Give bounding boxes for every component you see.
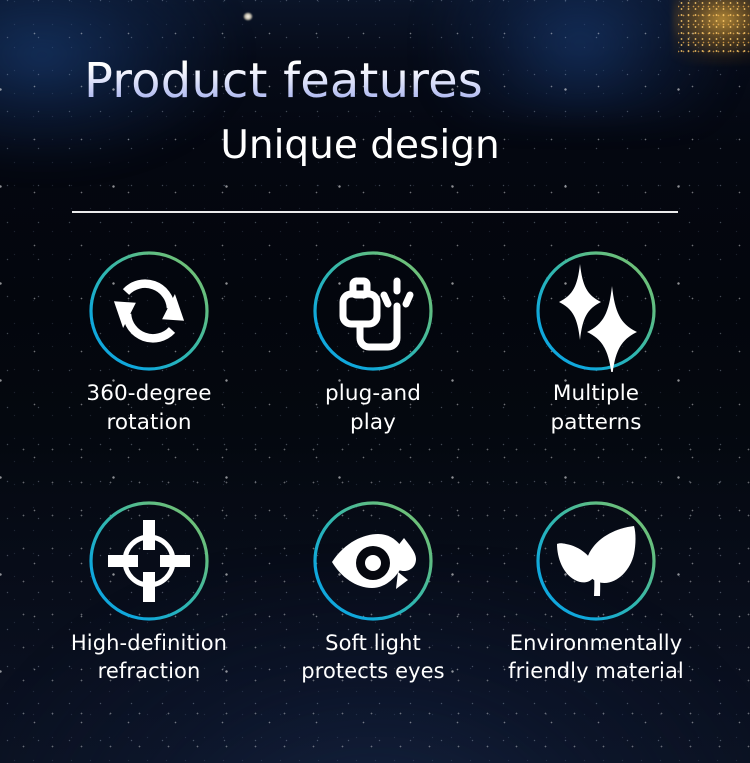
feature-row-1: 360-degree rotation bbox=[0, 250, 750, 500]
feature-icon-ring bbox=[88, 500, 210, 622]
page-title: Product features bbox=[84, 57, 483, 105]
feature-item-patterns[interactable]: Multiple patterns bbox=[481, 250, 711, 437]
plug-and-play-icon bbox=[343, 281, 410, 347]
product-features-banner: Product features Unique design bbox=[0, 0, 750, 763]
feature-label: Multiple patterns bbox=[481, 380, 711, 437]
feature-icon-ring bbox=[312, 250, 434, 372]
feature-icon-ring bbox=[312, 500, 434, 622]
feature-item-plug-and-play[interactable]: plug-and play bbox=[258, 250, 488, 437]
feature-grid: 360-degree rotation bbox=[0, 250, 750, 750]
crosshair-focus-icon bbox=[108, 520, 190, 602]
feature-item-eco-material[interactable]: Environmentally friendly material bbox=[481, 500, 711, 686]
feature-label: Environmentally friendly material bbox=[481, 630, 711, 686]
sparkle-patterns-icon bbox=[559, 264, 637, 372]
rotate-360-icon bbox=[126, 284, 172, 339]
feature-item-rotation[interactable]: 360-degree rotation bbox=[34, 250, 264, 437]
feature-item-eye-protection[interactable]: Soft light protects eyes bbox=[258, 500, 488, 686]
feature-label: High-definition refraction bbox=[34, 630, 264, 686]
sprout-leaf-icon bbox=[557, 526, 636, 596]
section-divider bbox=[72, 211, 678, 213]
city-lights-sparkle-icon bbox=[678, 0, 750, 54]
page-subtitle: Unique design bbox=[0, 126, 750, 165]
feature-label: 360-degree rotation bbox=[34, 380, 264, 437]
feature-label: plug-and play bbox=[258, 380, 488, 437]
eye-teardrop-icon bbox=[332, 534, 416, 589]
feature-label: Soft light protects eyes bbox=[258, 630, 488, 686]
feature-item-refraction[interactable]: High-definition refraction bbox=[34, 500, 264, 686]
bright-star-icon bbox=[243, 12, 253, 21]
feature-icon-ring bbox=[88, 250, 210, 372]
feature-icon-ring bbox=[535, 250, 657, 372]
feature-row-2: High-definition refraction bbox=[0, 500, 750, 750]
feature-icon-ring bbox=[535, 500, 657, 622]
